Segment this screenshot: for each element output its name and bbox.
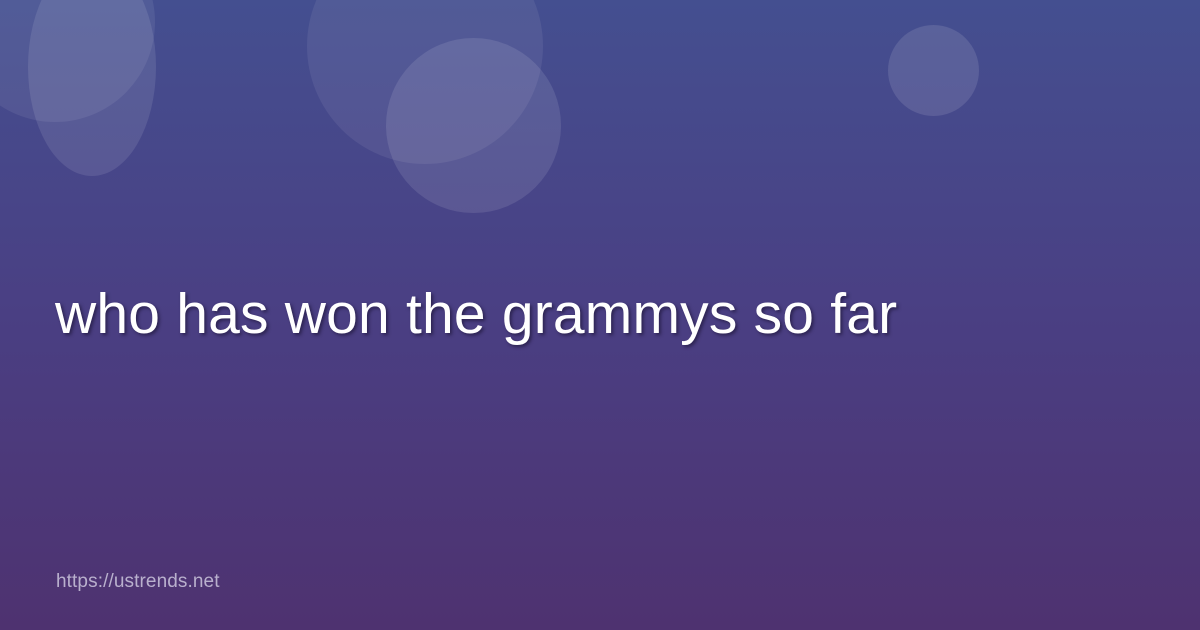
headline-container: who has won the grammys so far [0, 0, 1200, 630]
page-title: who has won the grammys so far [55, 281, 897, 348]
social-preview-card: who has won the grammys so far https://u… [0, 0, 1200, 630]
site-url-label: https://ustrends.net [56, 571, 220, 593]
